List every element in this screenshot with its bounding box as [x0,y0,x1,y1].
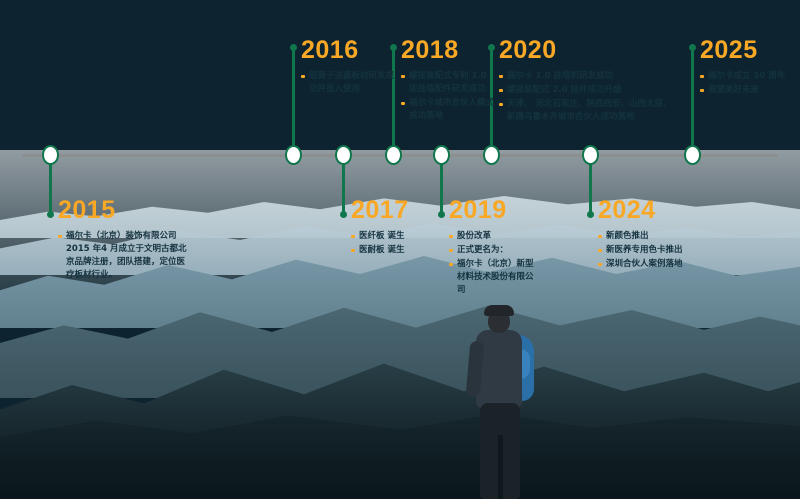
bullet-item: 深圳合伙人案例落地 [597,258,707,271]
timeline-node-2024[interactable] [582,145,599,165]
stem-2017 [342,157,345,215]
year-label-2025: 2025 [700,38,795,63]
bullet-list-2018: 螺接装配式专利 1.0 版挂墙配件研发成功 福尔卡城市合伙人模式成功落地 [400,70,496,123]
stem-2016 [292,47,295,147]
timeline-entry-2019[interactable]: 2019 股份改革 正式更名为： 福尔卡（北京）新型材料技术股份有限公司 [448,198,534,298]
stem-2015 [49,157,52,215]
bullet-list-2019: 股份改革 正式更名为： 福尔卡（北京）新型材料技术股份有限公司 [448,230,534,297]
timeline-entry-2018[interactable]: 2018 螺接装配式专利 1.0 版挂墙配件研发成功 福尔卡城市合伙人模式成功落… [400,38,496,124]
timeline-node-2018[interactable] [385,145,402,165]
year-label-2018: 2018 [401,38,496,63]
bullet-list-2015: 福尔卡（北京）装饰有限公司 2015 年4 月成立于文明古都北京品牌注册，团队搭… [57,230,193,282]
year-label-2024: 2024 [598,198,707,223]
year-label-2015: 2015 [58,198,193,223]
timeline-node-2019[interactable] [433,145,450,165]
timeline-infographic: 2016 银离子洁菌板材研发成功并投入使用 2018 螺接装配式专利 1.0 版… [0,0,800,499]
bullet-item: 医纤板 诞生 [350,230,436,243]
bullet-list-2016: 银离子洁菌板材研发成功并投入使用 [300,70,396,96]
timeline-node-2016[interactable] [285,145,302,165]
stem-2019 [440,157,443,215]
year-label-2019: 2019 [449,198,534,223]
timeline-entry-2015[interactable]: 2015 福尔卡（北京）装饰有限公司 2015 年4 月成立于文明古都北京品牌注… [57,198,193,283]
bullet-list-2025: 福尔卡成立 10 周年 展望美好未来 [699,70,795,97]
bullet-list-2017: 医纤板 诞生 医耐板 诞生 [350,230,436,257]
bullet-item: 正式更名为： [448,244,534,257]
timeline-node-2020[interactable] [483,145,500,165]
bullet-item: 福尔卡 1.0 挂墙机研发成功 [498,70,674,83]
bullet-item: 医耐板 诞生 [350,244,436,257]
year-label-2017: 2017 [351,198,436,223]
timeline-entry-2025[interactable]: 2025 福尔卡成立 10 周年 展望美好未来 [699,38,795,98]
timeline-entry-2017[interactable]: 2017 医纤板 诞生 医耐板 诞生 [350,198,436,258]
bullet-item: 天津、 河北石家庄、陕西西安、山西太原、新疆乌鲁木齐城市合伙人成功落地 [498,98,674,124]
bullet-item: 福尔卡（北京）装饰有限公司 2015 年4 月成立于文明古都北京品牌注册，团队搭… [57,230,193,282]
timeline-entry-2024[interactable]: 2024 新颜色推出 新医养专用色卡推出 深圳合伙人案例落地 [597,198,707,272]
bullet-item: 螺接装配式 2.0 挂件成功升级 [498,84,674,97]
hiker-leg-gap [498,435,503,499]
bullet-list-2024: 新颜色推出 新医养专用色卡推出 深圳合伙人案例落地 [597,230,707,271]
bullet-item: 银离子洁菌板材研发成功并投入使用 [300,70,396,96]
bullet-item: 新颜色推出 [597,230,707,243]
hiker-cap [484,305,514,316]
bullet-item: 福尔卡城市合伙人模式成功落地 [400,97,496,123]
hiker-torso [476,330,522,408]
stem-2025 [691,47,694,147]
hiker-figure [440,305,560,499]
bullet-item: 展望美好未来 [699,84,795,97]
bullet-item-continuation: 福尔卡（北京）新型材料技术股份有限公司 [448,258,534,297]
year-label-2016: 2016 [301,38,396,63]
timeline-node-2017[interactable] [335,145,352,165]
bullet-item: 福尔卡成立 10 周年 [699,70,795,83]
timeline-entry-2020[interactable]: 2020 福尔卡 1.0 挂墙机研发成功 螺接装配式 2.0 挂件成功升级 天津… [498,38,674,125]
bullet-item: 股份改革 [448,230,534,243]
timeline-entry-2016[interactable]: 2016 银离子洁菌板材研发成功并投入使用 [300,38,396,97]
timeline-node-2025[interactable] [684,145,701,165]
bullet-item: 螺接装配式专利 1.0 版挂墙配件研发成功 [400,70,496,96]
timeline-node-2015[interactable] [42,145,59,165]
bullet-list-2020: 福尔卡 1.0 挂墙机研发成功 螺接装配式 2.0 挂件成功升级 天津、 河北石… [498,70,674,124]
stem-2024 [589,157,592,215]
year-label-2020: 2020 [499,38,674,63]
bullet-item: 新医养专用色卡推出 [597,244,707,257]
